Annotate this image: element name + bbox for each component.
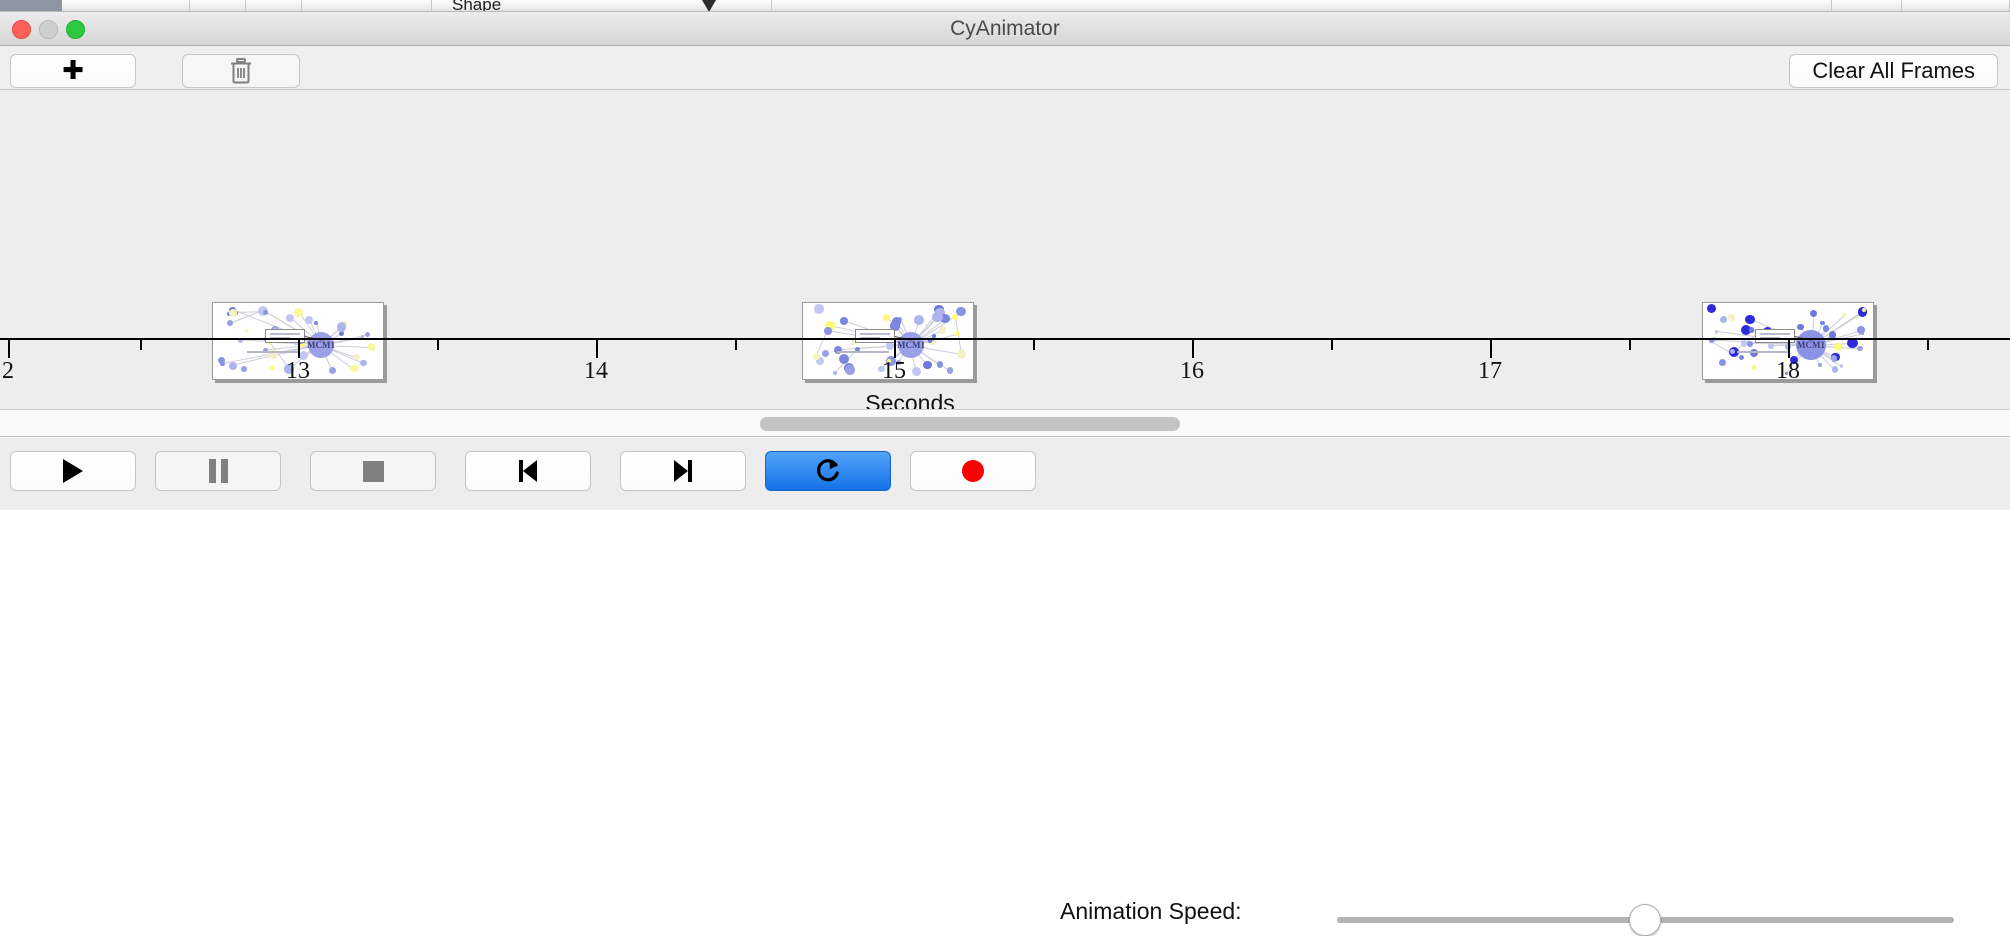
graph-node <box>229 309 237 317</box>
graph-node <box>822 350 829 357</box>
play-button[interactable] <box>10 451 136 491</box>
play-icon <box>63 459 83 483</box>
graph-node <box>939 326 947 334</box>
graph-node <box>932 312 942 322</box>
graph-node <box>912 367 921 376</box>
timeline-axis <box>0 338 2010 340</box>
graph-hub-node: MCM1 <box>1796 330 1826 360</box>
graph-node <box>353 354 359 360</box>
background-window-label: Shape <box>452 0 501 12</box>
graph-note-text <box>837 351 889 353</box>
graph-node <box>305 316 313 324</box>
timeline-tick-label: 13 <box>286 358 310 385</box>
window-title: CyAnimator <box>0 12 2010 46</box>
graph-node <box>229 362 237 370</box>
graph-node <box>368 343 375 350</box>
graph-node <box>1752 365 1757 370</box>
graph-node <box>350 365 357 372</box>
graph-node <box>329 367 337 375</box>
timeline-tick <box>1033 340 1035 350</box>
background-dark-tab <box>0 0 62 12</box>
graph-node <box>1749 327 1755 333</box>
timeline-tick-label: 14 <box>584 358 608 385</box>
graph-node <box>1831 355 1838 362</box>
graph-node <box>337 322 347 332</box>
background-segment <box>246 0 302 12</box>
timeline-tick <box>1629 340 1631 350</box>
background-segment <box>1902 0 2010 12</box>
graph-node <box>360 360 367 367</box>
background-segment <box>772 0 1832 12</box>
graph-node <box>955 331 960 336</box>
timeline-tick <box>140 340 142 350</box>
graph-node <box>892 317 902 327</box>
graph-node <box>1707 304 1716 313</box>
graph-node <box>1840 364 1844 368</box>
stop-icon <box>363 461 384 482</box>
graph-node <box>245 329 249 333</box>
trash-icon <box>228 57 254 85</box>
timeline-tick <box>1927 340 1929 350</box>
graph-node <box>1739 355 1745 361</box>
graph-node <box>845 365 855 375</box>
graph-node <box>824 327 832 335</box>
graph-node <box>1857 346 1863 352</box>
graph-node <box>914 315 924 325</box>
graph-node <box>883 314 890 321</box>
graph-note-text <box>1737 351 1789 353</box>
graph-node <box>263 310 268 315</box>
graph-node <box>1728 314 1735 321</box>
timeline-tick <box>8 340 10 358</box>
add-frame-button[interactable]: ✚ <box>10 54 136 88</box>
timeline-tick <box>1490 340 1492 358</box>
graph-node <box>1842 313 1846 317</box>
timeline-tick-label: 15 <box>882 358 906 385</box>
skip-to-end-button[interactable] <box>620 451 746 491</box>
graph-node <box>1715 330 1719 334</box>
graph-tooltip-callout <box>855 329 895 343</box>
graph-node <box>1797 324 1804 331</box>
skip-to-start-button[interactable] <box>465 451 591 491</box>
graph-node <box>1818 363 1823 368</box>
stop-button[interactable] <box>310 451 436 491</box>
clear-all-frames-button[interactable]: Clear All Frames <box>1789 54 1998 88</box>
graph-node <box>241 366 247 372</box>
background-segment <box>1832 0 1902 12</box>
graph-node <box>957 349 966 358</box>
background-segment <box>62 0 190 12</box>
graph-node <box>365 332 371 338</box>
graph-hub-node: MCM1 <box>898 332 924 358</box>
graph-node <box>1862 308 1866 312</box>
graph-node <box>1768 343 1774 349</box>
graph-node <box>1741 340 1748 347</box>
graph-node <box>1834 343 1842 351</box>
skip-back-icon <box>519 460 537 482</box>
graph-node <box>840 317 847 324</box>
graph-node <box>814 304 824 314</box>
timeline-tick-label: 18 <box>1776 358 1800 385</box>
graph-node <box>813 353 819 359</box>
graph-node <box>227 320 233 326</box>
loop-button[interactable] <box>765 451 891 491</box>
timeline-tick-label: 17 <box>1478 358 1502 385</box>
graph-node <box>220 362 225 367</box>
timeline-tick-label: 16 <box>1180 358 1204 385</box>
graph-hub-node: MCM1 <box>308 332 334 358</box>
pause-button[interactable] <box>155 451 281 491</box>
horizontal-scrollbar[interactable] <box>0 411 2010 437</box>
graph-node <box>1747 341 1753 347</box>
graph-node <box>1810 310 1817 317</box>
timeline-tick <box>1331 340 1333 350</box>
timeline-tick <box>596 340 598 358</box>
title-bar: CyAnimator <box>0 12 2010 46</box>
playback-bar: Animation Speed: <box>0 438 2010 510</box>
record-icon <box>962 460 984 482</box>
timeline-tick <box>735 340 737 350</box>
graph-node <box>270 365 276 371</box>
record-button[interactable] <box>910 451 1036 491</box>
graph-note-text <box>247 351 299 353</box>
timeline-tick-label: 2 <box>2 358 14 385</box>
timeline-tick <box>437 340 439 350</box>
graph-node <box>1861 332 1864 335</box>
timeline-tick <box>1192 340 1194 358</box>
skip-forward-icon <box>674 460 692 482</box>
background-segment <box>190 0 246 12</box>
animation-speed-label: Animation Speed: <box>1060 898 1242 925</box>
axis-title: Seconds <box>0 390 1820 410</box>
graph-node <box>1719 359 1726 366</box>
graph-node <box>1823 325 1829 331</box>
delete-frame-button[interactable] <box>182 54 300 88</box>
timeline-tick <box>298 340 300 358</box>
graph-node <box>1832 366 1839 373</box>
graph-node <box>1720 316 1727 323</box>
pause-icon <box>209 459 228 483</box>
graph-node <box>1745 315 1755 325</box>
background-segment <box>302 0 432 12</box>
graph-node <box>839 354 849 364</box>
animation-speed-slider-thumb[interactable] <box>1629 904 1661 936</box>
graph-node <box>1820 321 1824 325</box>
scrollbar-thumb[interactable] <box>760 417 1180 431</box>
toolbar: ✚ Clear All Frames <box>0 46 2010 90</box>
graph-node <box>833 371 837 375</box>
loop-icon <box>813 456 843 486</box>
plus-icon: ✚ <box>62 58 84 84</box>
background-window-strip: Shape <box>0 0 2010 12</box>
timeline-tick <box>1788 340 1790 358</box>
timeline-panel[interactable]: MCM1MCM1MCM1 2131415161718 Seconds <box>0 90 2010 410</box>
graph-node <box>956 307 966 317</box>
graph-node <box>923 361 932 370</box>
timeline-tick <box>894 340 896 358</box>
graph-node <box>947 367 954 374</box>
